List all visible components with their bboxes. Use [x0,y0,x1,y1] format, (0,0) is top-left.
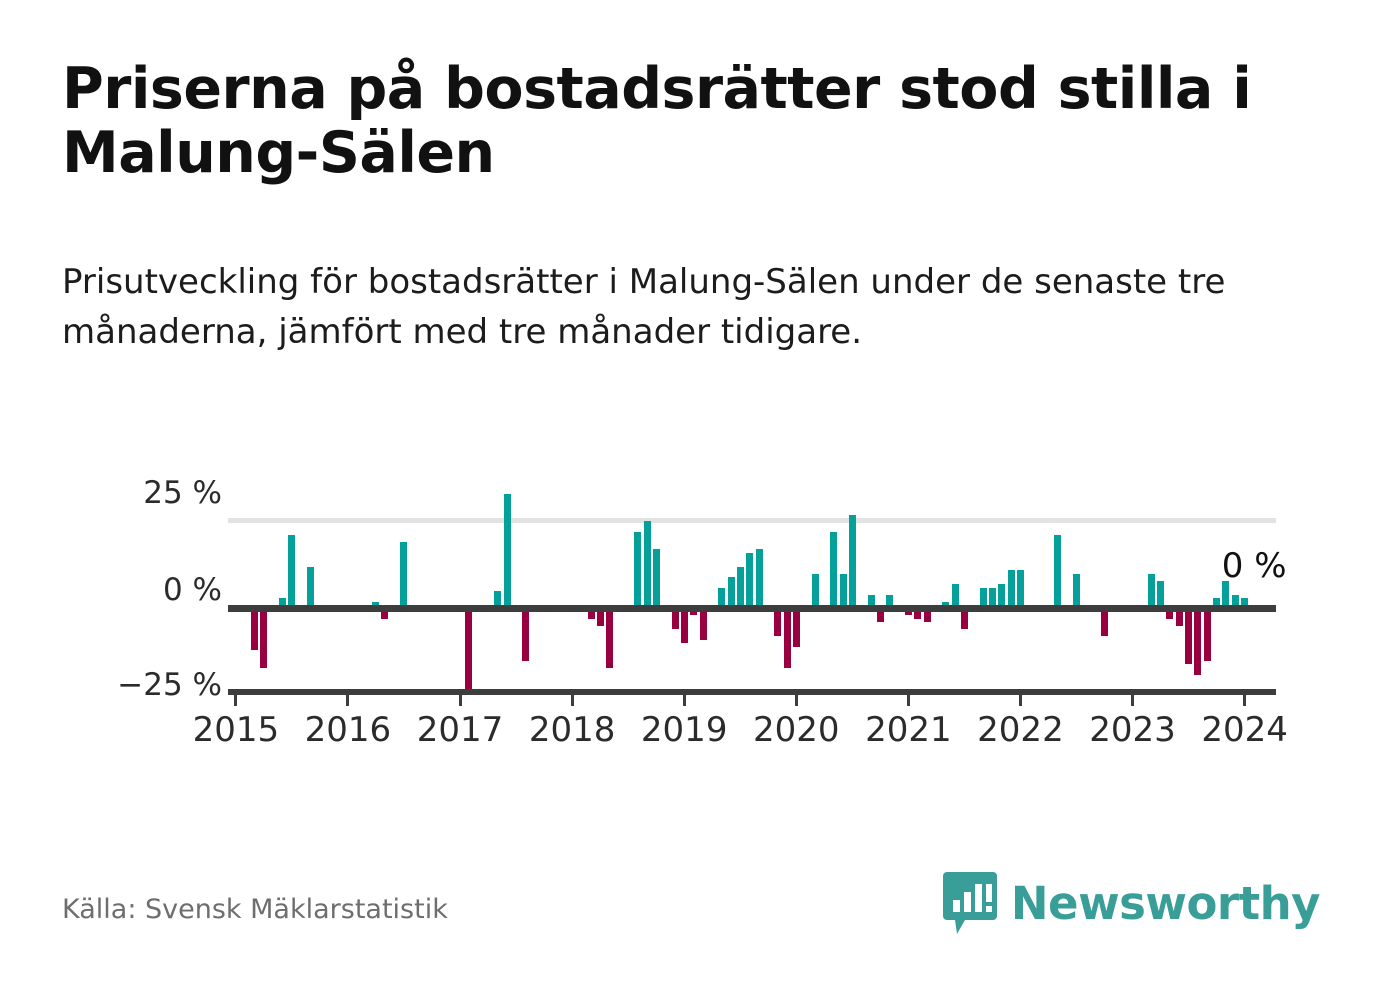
bar-chart-speech-bubble-icon [943,872,997,934]
bar [737,567,744,605]
x-axis-tick [1131,691,1134,706]
x-axis-tick [907,691,910,706]
bar [634,532,641,605]
bar [1157,581,1164,605]
logo-wordmark: Newsworthy [1011,881,1320,926]
newsworthy-logo: Newsworthy [943,872,1320,934]
x-axis-tick [683,691,686,706]
y-axis-tick-0: 0 % [42,572,222,608]
bar [307,567,314,605]
last-value-annotation: 0 % [1222,546,1287,586]
y-axis-tick-25: 25 % [42,475,222,511]
bar [1008,570,1015,605]
bar [868,595,875,605]
bar [784,605,791,668]
bar-series [228,490,1276,690]
x-axis-tick [1019,691,1022,706]
bar [718,588,725,605]
bar [1073,574,1080,605]
x-axis-label: 2024 [1201,710,1288,750]
x-axis-label: 2023 [1089,710,1176,750]
bar [728,577,735,605]
bar [1213,598,1220,605]
bar [998,584,1005,605]
x-axis-label: 2018 [529,710,616,750]
bar [400,542,407,605]
bar [1017,570,1024,605]
page-title: Priserna på bostadsrätter stod stilla i … [62,58,1332,186]
x-axis-tick [1243,691,1246,706]
bar [653,549,660,605]
bar [522,605,529,661]
bar [1185,605,1192,664]
x-axis-tick [234,691,237,706]
x-axis-label: 2017 [417,710,504,750]
bar [504,494,511,605]
bar [1241,598,1248,605]
bar [830,532,837,605]
chart-container: 25 % 0 % −25 % 2015201620172018201920202… [0,470,1382,780]
bar [886,595,893,605]
bar [1054,535,1061,605]
bar [1148,574,1155,605]
bar [849,515,856,605]
bar [644,521,651,605]
bar [260,605,267,668]
x-axis-label: 2021 [865,710,952,750]
bar [812,574,819,605]
bar [952,584,959,605]
bar [1204,605,1211,661]
y-axis-tick-neg25: −25 % [42,667,222,703]
x-axis-tick [459,691,462,706]
bar [840,574,847,605]
page-subtitle: Prisutveckling för bostadsrätter i Malun… [62,258,1302,358]
bar [465,605,472,689]
infographic-page: Priserna på bostadsrätter stod stilla i … [0,0,1382,999]
x-axis-ticks [228,691,1276,707]
bar [980,588,987,605]
bar [1194,605,1201,675]
bar [494,591,501,605]
bar [746,553,753,605]
zero-axis-line [228,605,1276,612]
x-axis-tick [571,691,574,706]
source-note: Källa: Svensk Mäklarstatistik [62,894,448,925]
x-axis-label: 2015 [193,710,280,750]
bar [606,605,613,668]
x-axis-label: 2022 [977,710,1064,750]
bar [288,535,295,605]
plot-area [228,490,1276,690]
bar [279,598,286,605]
x-axis-label: 2016 [305,710,392,750]
bar [756,549,763,605]
bar [1232,595,1239,605]
x-axis-tick [346,691,349,706]
x-axis-label: 2020 [753,710,840,750]
x-axis-label: 2019 [641,710,728,750]
x-axis-tick [795,691,798,706]
bar [989,588,996,605]
